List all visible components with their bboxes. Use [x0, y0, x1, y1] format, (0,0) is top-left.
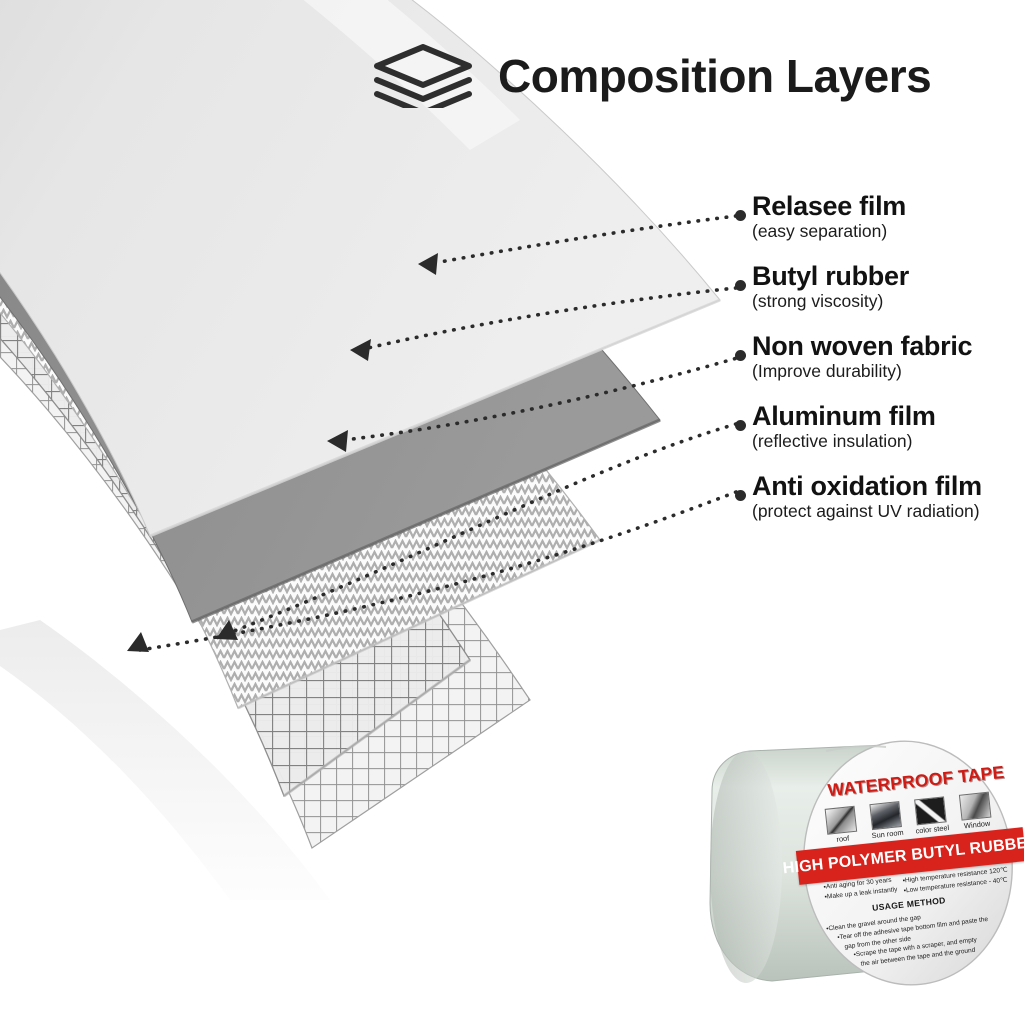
layer-label-aluminum-film: Aluminum film (reflective insulation): [735, 396, 1024, 466]
layer-label-release-film: Relasee film (easy separation): [735, 186, 1024, 256]
layer-label-butyl-rubber: Butyl rubber (strong viscosity): [735, 256, 1024, 326]
layer-note: (Improve durability): [752, 362, 902, 380]
layer-name: Butyl rubber: [752, 262, 909, 290]
layer-label-anti-oxidation-film: Anti oxidation film (protect against UV …: [735, 466, 1024, 536]
layer-label-list: Relasee film (easy separation) Butyl rub…: [735, 186, 1024, 536]
page-title: Composition Layers: [372, 44, 931, 108]
layer-note: (protect against UV radiation): [752, 502, 980, 520]
layers-stack-icon: [372, 44, 474, 108]
layer-name: Anti oxidation film: [752, 472, 982, 500]
layer-note: (reflective insulation): [752, 432, 912, 450]
layer-note: (easy separation): [752, 222, 887, 240]
roll-shape: [676, 735, 1024, 997]
layer-label-non-woven-fabric: Non woven fabric (Improve durability): [735, 326, 1024, 396]
page-title-text: Composition Layers: [498, 53, 931, 99]
leader-dot-icon: [735, 350, 746, 361]
leader-dot-icon: [735, 420, 746, 431]
infographic-canvas: Composition Layers Relasee film (easy se…: [0, 0, 1024, 1024]
layer-note: (strong viscosity): [752, 292, 883, 310]
leader-dot-icon: [735, 490, 746, 501]
layer-name: Relasee film: [752, 192, 906, 220]
leader-dot-icon: [735, 210, 746, 221]
layer-name: Aluminum film: [752, 402, 936, 430]
layer-name: Non woven fabric: [752, 332, 972, 360]
product-roll-photo: WATERPROOF TAPE roof Sun room color stee…: [676, 735, 1024, 997]
leader-dot-icon: [735, 280, 746, 291]
